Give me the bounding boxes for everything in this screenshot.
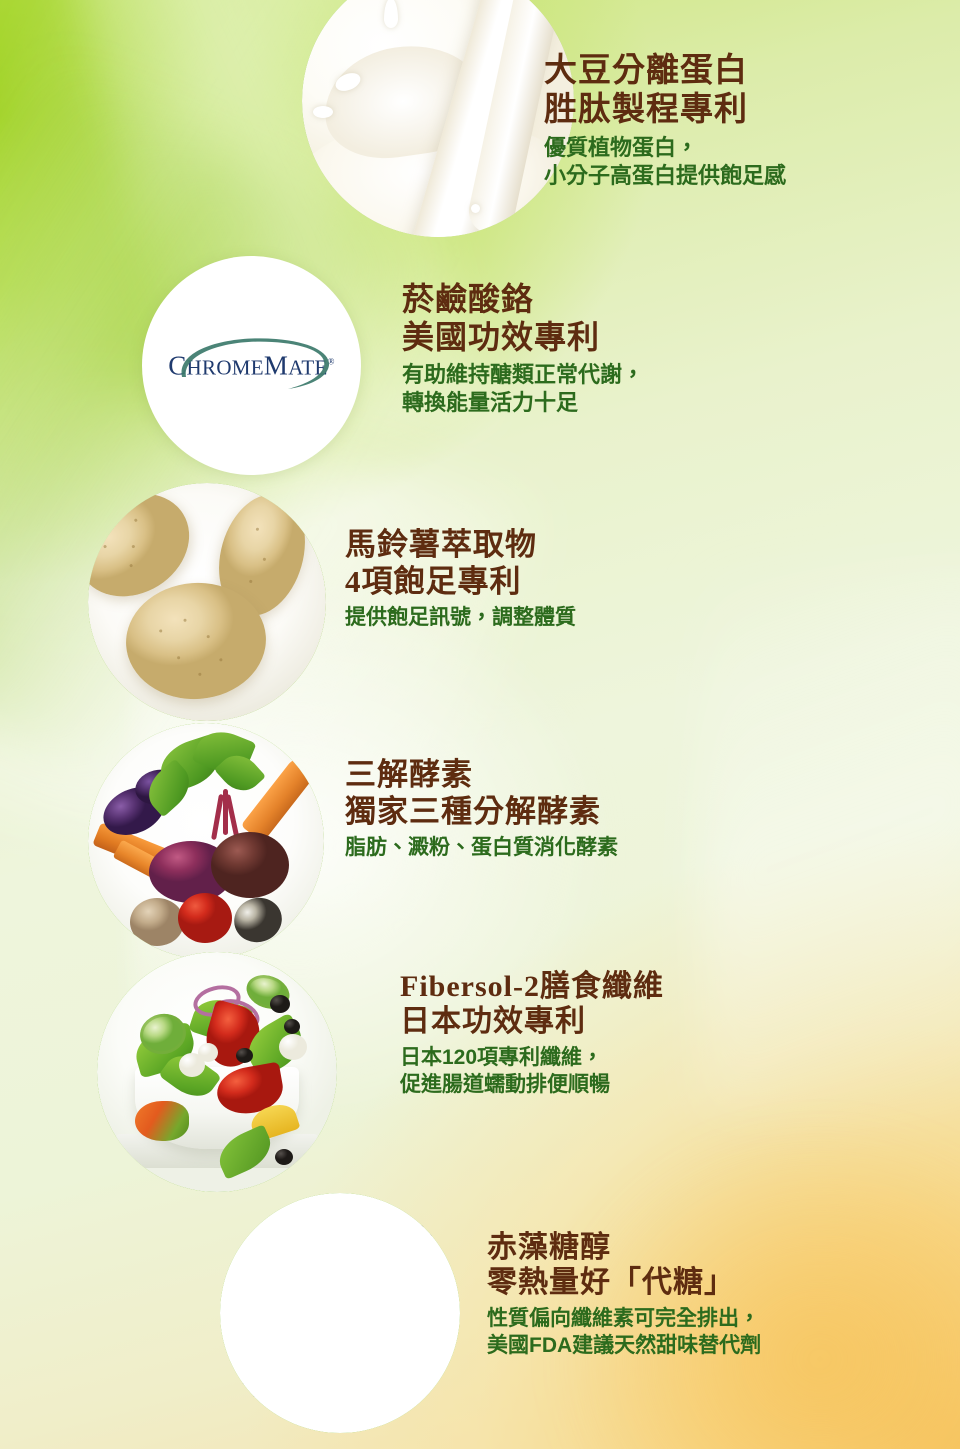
heading-line-2: 日本功效專利 (400, 1004, 664, 1039)
section-chromemate-heading: 菸鹼酸鉻 美國功效專利 (402, 281, 644, 357)
section-potato-extract-heading: 馬鈴薯萃取物 4項飽足專利 (345, 527, 576, 600)
mixed-vegetables-photo (88, 723, 324, 959)
section-potato-extract-text: 馬鈴薯萃取物 4項飽足專利 提供飽足訊號，調整體質 (345, 527, 576, 631)
heading-line-1: 赤藻糖醇 (487, 1230, 761, 1265)
section-triple-enzyme-heading: 三解酵素 獨家三種分解酵素 (345, 757, 618, 830)
section-potato-extract-body: 提供飽足訊號，調整體質 (345, 604, 576, 631)
section-fibersol-body: 日本120項專利纖維， 促進腸道蠕動排便順暢 (400, 1044, 664, 1099)
potatoes-photo (88, 483, 326, 721)
body-line-2: 美國FDA建議天然甜味替代劑 (487, 1332, 761, 1359)
body-line-2: 小分子高蛋白提供飽足感 (544, 162, 786, 191)
section-soy-protein-heading: 大豆分離蛋白 胜肽製程專利 (544, 52, 786, 130)
heading-line-1: 馬鈴薯萃取物 (345, 527, 576, 564)
body-line-1: 日本120項專利纖維， (400, 1044, 664, 1071)
ingredient-infographic-poster: 大豆分離蛋白 胜肽製程專利 優質植物蛋白， 小分子高蛋白提供飽足感 CHROME… (0, 0, 960, 1449)
body-line-2: 轉換能量活力十足 (402, 389, 644, 418)
section-erythritol-body: 性質偏向纖維素可完全排出， 美國FDA建議天然甜味替代劑 (487, 1305, 761, 1360)
body-line-1: 提供飽足訊號，調整體質 (345, 604, 576, 631)
chromemate-logo: CHROMEMATE® (142, 256, 361, 475)
body-line-1: 優質植物蛋白， (544, 134, 786, 163)
section-triple-enzyme-text: 三解酵素 獨家三種分解酵素 脂肪、澱粉、蛋白質消化酵素 (345, 757, 618, 861)
heading-line-2: 美國功效專利 (402, 319, 644, 357)
body-line-2: 促進腸道蠕動排便順暢 (400, 1071, 664, 1098)
section-triple-enzyme-body: 脂肪、澱粉、蛋白質消化酵素 (345, 834, 618, 861)
section-chromemate-body: 有助維持醣類正常代謝， 轉換能量活力十足 (402, 361, 644, 418)
erythritol-structure-diagram: H C CH2OH OH OH C H CH2OH (220, 1193, 460, 1433)
heading-line-1: 大豆分離蛋白 (544, 52, 786, 91)
heading-line-2: 零熱量好「代糖」 (487, 1265, 761, 1300)
body-line-1: 性質偏向纖維素可完全排出， (487, 1305, 761, 1332)
body-line-1: 脂肪、澱粉、蛋白質消化酵素 (345, 834, 618, 861)
heading-line-2: 4項飽足專利 (345, 564, 576, 601)
section-fibersol-heading: Fibersol-2膳食纖維 日本功效專利 (400, 969, 664, 1040)
section-chromemate-text: 菸鹼酸鉻 美國功效專利 有助維持醣類正常代謝， 轉換能量活力十足 (402, 281, 644, 418)
body-line-1: 有助維持醣類正常代謝， (402, 361, 644, 390)
section-erythritol-heading: 赤藻糖醇 零熱量好「代糖」 (487, 1230, 761, 1301)
section-erythritol-text: 赤藻糖醇 零熱量好「代糖」 性質偏向纖維素可完全排出， 美國FDA建議天然甜味替… (487, 1230, 761, 1359)
milk-splash-photo (302, 0, 574, 237)
heading-line-1: Fibersol-2膳食纖維 (400, 969, 664, 1004)
heading-line-2: 胜肽製程專利 (544, 91, 786, 130)
section-soy-protein-text: 大豆分離蛋白 胜肽製程專利 優質植物蛋白， 小分子高蛋白提供飽足感 (544, 52, 786, 191)
salad-bowl-photo (97, 952, 337, 1192)
heading-line-2: 獨家三種分解酵素 (345, 794, 618, 831)
chromemate-swoosh-icon (168, 333, 336, 399)
section-fibersol-text: Fibersol-2膳食纖維 日本功效專利 日本120項專利纖維， 促進腸道蠕動… (400, 969, 664, 1098)
section-soy-protein-body: 優質植物蛋白， 小分子高蛋白提供飽足感 (544, 134, 786, 191)
heading-line-1: 三解酵素 (345, 757, 618, 794)
heading-line-1: 菸鹼酸鉻 (402, 281, 644, 319)
